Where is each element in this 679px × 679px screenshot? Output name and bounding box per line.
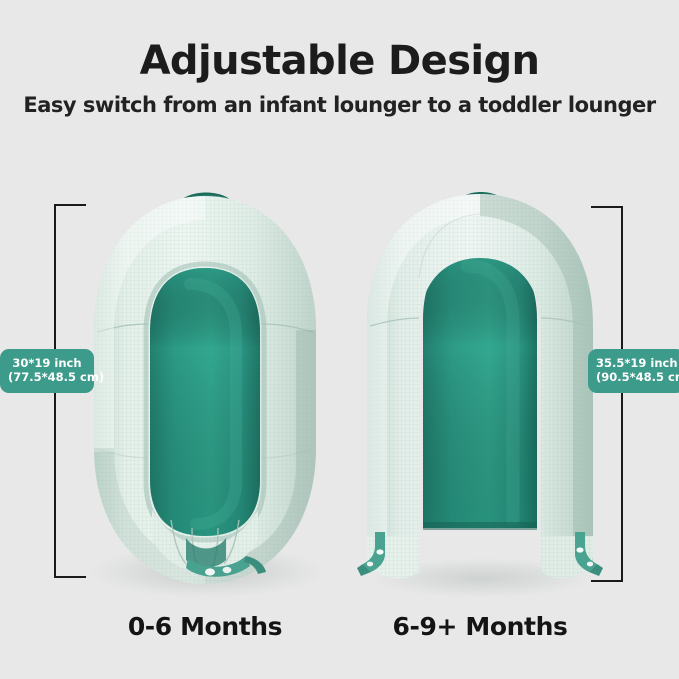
dimension-metric: (77.5*48.5 cm) — [8, 370, 86, 384]
page-subtitle: Easy switch from an infant lounger to a … — [0, 82, 679, 117]
dimension-imperial: 35.5*19 inch — [596, 356, 678, 370]
header: Adjustable Design Easy switch from an in… — [0, 0, 679, 117]
toddler-mattress — [423, 248, 537, 530]
bracket-tick-bottom — [54, 576, 86, 578]
dimension-badge-toddler: 35.5*19 inch (90.5*48.5 cm) — [588, 349, 679, 393]
caption-toddler-age: 6-9+ Months — [350, 612, 610, 641]
product-comparison-stage — [0, 180, 679, 600]
dimension-bracket-right — [591, 206, 623, 582]
dimension-badge-infant: 30*19 inch (77.5*48.5 cm) — [0, 349, 94, 393]
dimension-metric: (90.5*48.5 cm) — [596, 370, 677, 384]
bracket-tick-top — [591, 206, 623, 208]
caption-infant-age: 0-6 Months — [75, 612, 335, 641]
product-infographic: Adjustable Design Easy switch from an in… — [0, 0, 679, 679]
page-title: Adjustable Design — [0, 0, 679, 82]
toddler-lounger-image — [345, 180, 615, 600]
bracket-spine — [621, 206, 623, 582]
bracket-tick-top — [54, 204, 86, 206]
bracket-tick-bottom — [591, 580, 623, 582]
toddler-lounger-icon — [345, 180, 615, 600]
infant-lounger-image — [70, 180, 340, 600]
infant-lounger-icon — [70, 180, 340, 600]
dimension-imperial: 30*19 inch — [12, 356, 81, 370]
infant-mattress — [150, 268, 260, 536]
